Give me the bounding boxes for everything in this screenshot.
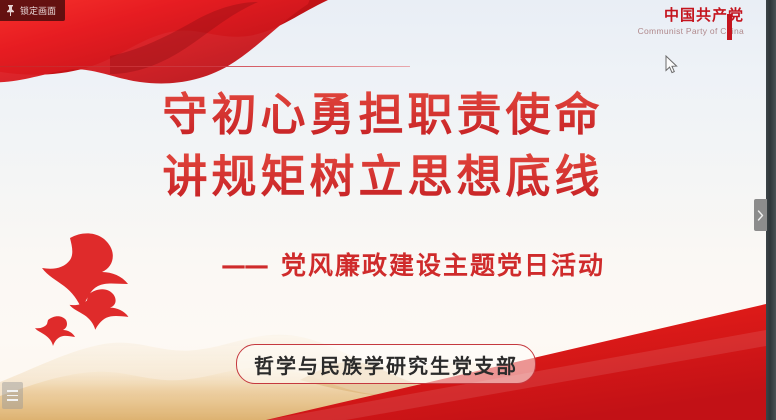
organization-name: 哲学与民族学研究生党支部 bbox=[254, 350, 518, 379]
menu-lines-icon bbox=[7, 395, 18, 397]
window-right-border bbox=[766, 0, 776, 420]
cpc-logo-accent-bar bbox=[727, 14, 732, 40]
slide-title-line-2: 讲规矩树立思想底线 bbox=[0, 146, 766, 208]
menu-lines-icon bbox=[7, 390, 18, 392]
dove-decoration bbox=[28, 224, 188, 349]
organization-banner: 哲学与民族学研究生党支部 bbox=[236, 344, 536, 384]
slide-title-line-1: 守初心勇担职责使命 bbox=[0, 84, 766, 146]
pin-icon bbox=[6, 5, 15, 16]
lock-screen-button[interactable]: 锁定画面 bbox=[0, 0, 65, 21]
screen-root: 中国共产党 Communist Party of China 守初心勇担职责使命… bbox=[0, 0, 776, 420]
presentation-slide: 中国共产党 Communist Party of China 守初心勇担职责使命… bbox=[0, 0, 766, 420]
subtitle-dash: —— bbox=[221, 251, 267, 280]
left-panel-handle[interactable] bbox=[2, 382, 23, 409]
slide-title: 守初心勇担职责使命 讲规矩树立思想底线 bbox=[0, 84, 766, 208]
menu-lines-icon bbox=[7, 399, 18, 401]
chevron-right-icon bbox=[757, 210, 764, 221]
right-panel-handle[interactable] bbox=[754, 199, 767, 231]
lock-screen-label: 锁定画面 bbox=[20, 4, 56, 17]
subtitle-text: 党风廉政建设主题党日活动 bbox=[281, 251, 605, 280]
slide-subtitle: ——党风廉政建设主题党日活动 bbox=[0, 246, 766, 282]
title-divider-rule bbox=[0, 66, 410, 67]
cpc-logo: 中国共产党 Communist Party of China bbox=[638, 8, 744, 36]
